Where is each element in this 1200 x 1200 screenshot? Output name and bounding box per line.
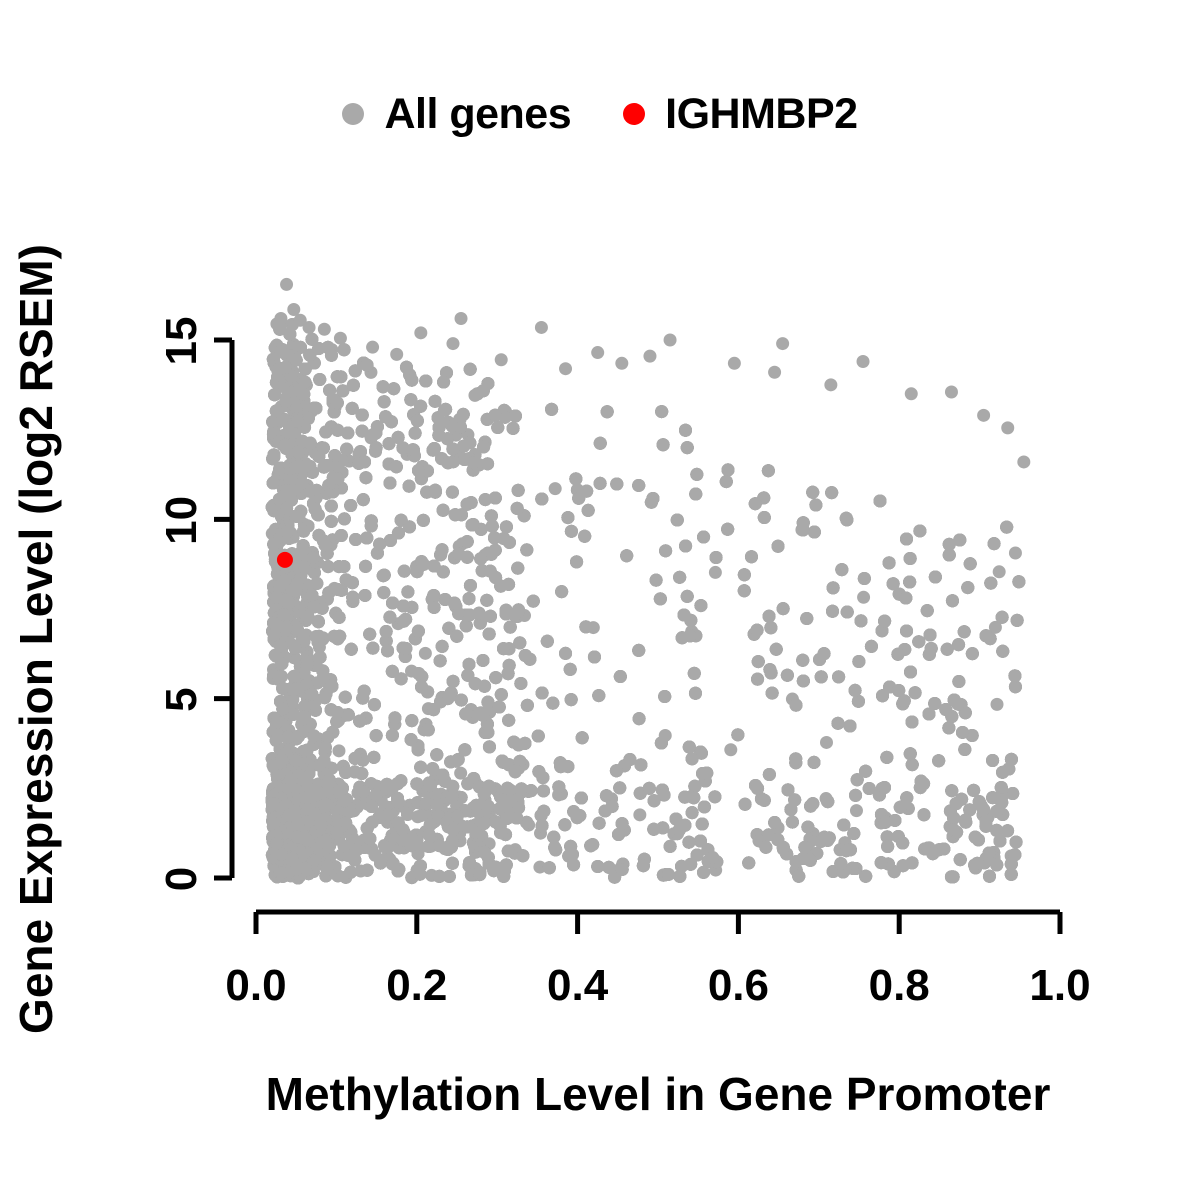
chart-canvas: 0.00.20.40.60.81.0051015Methylation Leve… <box>0 0 1200 1200</box>
y-axis-title: Gene Expression Level (log2 RSEM) <box>10 244 62 1034</box>
y-tick-label: 0 <box>157 867 206 891</box>
x-tick-label: 0.6 <box>708 961 769 1010</box>
x-tick-label: 0.0 <box>225 961 286 1010</box>
x-axis-title: Methylation Level in Gene Promoter <box>266 1068 1051 1120</box>
data-points-layer <box>266 278 1031 885</box>
x-tick-label: 0.8 <box>869 961 930 1010</box>
highlight-point-layer <box>277 552 293 568</box>
scatter-plot-figure: All genes IGHMBP2 0.00.20.40.60.81.00510… <box>0 0 1200 1200</box>
y-tick-label: 15 <box>157 317 206 366</box>
x-tick-label: 0.4 <box>547 961 609 1010</box>
axis-labels-layer: 0.00.20.40.60.81.0051015Methylation Leve… <box>10 244 1091 1120</box>
y-tick-label: 10 <box>157 496 206 545</box>
x-tick-label: 1.0 <box>1029 961 1090 1010</box>
x-tick-label: 0.2 <box>386 961 447 1010</box>
y-tick-label: 5 <box>157 687 206 711</box>
